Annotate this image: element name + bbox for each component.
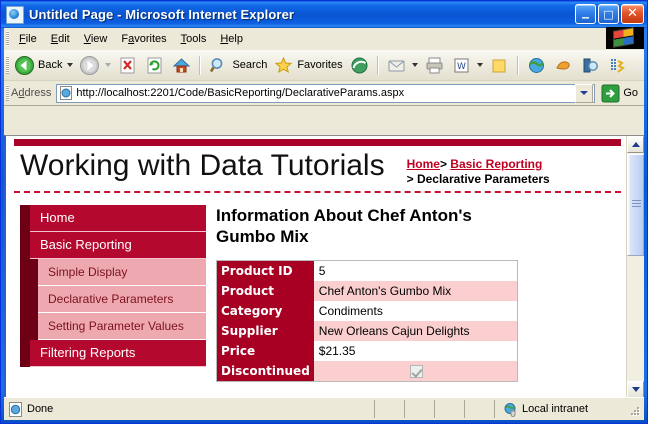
sidebar-gutter bbox=[20, 232, 30, 259]
go-button[interactable]: Go bbox=[601, 84, 638, 103]
browser-window: Untitled Page - Microsoft Internet Explo… bbox=[0, 0, 648, 424]
sidebar-gutter bbox=[20, 259, 30, 286]
page-title: Information About Chef Anton's Gumbo Mix bbox=[216, 205, 526, 247]
edit-button[interactable]: W bbox=[448, 53, 486, 77]
print-button[interactable] bbox=[421, 53, 448, 77]
vertical-scrollbar[interactable] bbox=[626, 136, 644, 398]
mail-button[interactable] bbox=[383, 53, 421, 77]
breadcrumb-line-2: > Declarative Parameters bbox=[407, 172, 550, 187]
sidebar-gutter bbox=[20, 286, 30, 313]
row-label: Product bbox=[217, 281, 314, 301]
back-button[interactable]: Back bbox=[11, 53, 76, 77]
row-value: Condiments bbox=[314, 301, 518, 321]
scrollbar-thumb[interactable] bbox=[627, 154, 644, 256]
security-zone-panel[interactable]: Local intranet bbox=[494, 400, 644, 418]
product-detail-table: Product ID 5 Product Chef Anton's Gumbo … bbox=[216, 260, 518, 382]
ie-page-icon bbox=[8, 402, 23, 417]
title-bar: Untitled Page - Microsoft Internet Explo… bbox=[1, 1, 647, 28]
maximize-icon: □ bbox=[599, 5, 618, 24]
security-zone-text: Local intranet bbox=[522, 403, 588, 415]
print-icon bbox=[424, 55, 445, 76]
sidebar-item-label: Basic Reporting bbox=[30, 232, 206, 259]
search-button[interactable]: Search bbox=[205, 53, 270, 77]
table-row: Supplier New Orleans Cajun Delights bbox=[217, 321, 518, 341]
chevron-up-icon bbox=[632, 142, 640, 147]
back-label: Back bbox=[38, 59, 62, 71]
row-label: Product ID bbox=[217, 261, 314, 282]
address-label: Address bbox=[11, 87, 51, 99]
maximize-button[interactable]: □ bbox=[598, 4, 619, 24]
standard-toolbar: Back bbox=[4, 50, 644, 81]
table-row: Category Condiments bbox=[217, 301, 518, 321]
search-icon bbox=[208, 55, 229, 76]
page-divider bbox=[14, 191, 621, 193]
sidebar-item-label: Filtering Reports bbox=[30, 340, 206, 367]
sidebar-item-label: Simple Display bbox=[38, 259, 206, 286]
menu-edit[interactable]: Edit bbox=[44, 31, 77, 47]
page-header: Working with Data Tutorials Home> Basic … bbox=[20, 146, 621, 187]
status-panel-blank-1 bbox=[374, 400, 404, 418]
scroll-down-button[interactable] bbox=[627, 381, 644, 398]
home-icon bbox=[171, 55, 192, 76]
favorites-star-icon bbox=[273, 55, 294, 76]
discontinued-checkbox bbox=[410, 365, 423, 378]
addressbar-grip[interactable] bbox=[6, 85, 9, 101]
address-dropdown-button[interactable] bbox=[575, 84, 593, 103]
menu-file[interactable]: File bbox=[12, 31, 44, 47]
table-row: Product Chef Anton's Gumbo Mix bbox=[217, 281, 518, 301]
media-button[interactable] bbox=[346, 53, 373, 77]
browser-viewport: Working with Data Tutorials Home> Basic … bbox=[4, 135, 644, 398]
menubar-grip[interactable] bbox=[6, 31, 9, 46]
scrollbar-grip-icon bbox=[632, 200, 641, 208]
menu-tools[interactable]: Tools bbox=[174, 31, 214, 47]
table-row: Discontinued bbox=[217, 361, 518, 382]
notes-icon bbox=[489, 55, 510, 76]
media-icon bbox=[349, 55, 370, 76]
sidebar-sub-gutter bbox=[30, 259, 38, 286]
forward-arrow-icon bbox=[79, 55, 100, 76]
table-row: Price $21.35 bbox=[217, 341, 518, 361]
research-icon bbox=[580, 55, 601, 76]
research-button[interactable] bbox=[577, 53, 604, 77]
sidebar-item-label: Declarative Parameters bbox=[38, 286, 206, 313]
status-bar: Done Local intranet bbox=[4, 397, 644, 420]
toolbar-grip[interactable] bbox=[6, 56, 9, 74]
row-value: 5 bbox=[314, 261, 518, 282]
toolbar-separator bbox=[199, 56, 201, 75]
minimize-button[interactable]: _ bbox=[575, 4, 596, 24]
row-value: New Orleans Cajun Delights bbox=[314, 321, 518, 341]
page-body: Home Basic Reporting Simple Display bbox=[6, 205, 627, 382]
chevron-down-icon bbox=[632, 387, 640, 392]
forward-dropdown-icon[interactable] bbox=[105, 63, 111, 67]
home-button[interactable] bbox=[168, 53, 195, 77]
ie-page-icon bbox=[6, 6, 24, 24]
status-text: Done bbox=[27, 403, 53, 415]
toolbar-separator bbox=[377, 56, 379, 75]
search-label: Search bbox=[232, 59, 267, 71]
go-label: Go bbox=[623, 87, 638, 99]
close-icon: ✕ bbox=[622, 5, 643, 23]
row-label: Discontinued bbox=[217, 361, 314, 382]
site-title: Working with Data Tutorials bbox=[20, 148, 385, 184]
resize-grip[interactable] bbox=[628, 404, 642, 418]
toolbar-separator bbox=[517, 56, 519, 75]
messenger-button[interactable] bbox=[550, 53, 577, 77]
status-panel-blank-2 bbox=[404, 400, 434, 418]
menu-help[interactable]: Help bbox=[213, 31, 250, 47]
page-accent-bar bbox=[14, 139, 621, 146]
sidebar-item-label: Home bbox=[30, 205, 206, 232]
web-page: Working with Data Tutorials Home> Basic … bbox=[6, 136, 627, 398]
address-bar: Address http://localhost:2201/Code/Basic… bbox=[4, 81, 644, 106]
row-label: Supplier bbox=[217, 321, 314, 341]
row-value: $21.35 bbox=[314, 341, 518, 361]
close-button[interactable]: ✕ bbox=[621, 4, 644, 24]
breadcrumb-separator: > bbox=[440, 157, 447, 171]
sidebar-item-setting-parameter-values[interactable]: Setting Parameter Values bbox=[20, 313, 206, 340]
globe-icon bbox=[526, 55, 547, 76]
sidebar-nav: Home Basic Reporting Simple Display bbox=[20, 205, 206, 382]
menu-view[interactable]: View bbox=[77, 31, 115, 47]
back-dropdown-icon[interactable] bbox=[67, 63, 73, 67]
address-url-text[interactable]: http://localhost:2201/Code/BasicReportin… bbox=[76, 87, 404, 99]
forward-button[interactable] bbox=[76, 53, 114, 77]
edit-dropdown-icon[interactable] bbox=[477, 63, 483, 67]
favorites-label: Favorites bbox=[297, 59, 342, 71]
go-arrow-icon bbox=[601, 84, 620, 103]
mail-dropdown-icon[interactable] bbox=[412, 63, 418, 67]
globe-shield-icon bbox=[503, 402, 518, 417]
refresh-button[interactable] bbox=[141, 53, 168, 77]
globe-button[interactable] bbox=[523, 53, 550, 77]
breadcrumb-current: Declarative Parameters bbox=[417, 172, 550, 186]
window-title: Untitled Page - Microsoft Internet Explo… bbox=[29, 7, 294, 22]
minimize-icon: _ bbox=[576, 5, 595, 18]
svg-text:W: W bbox=[457, 62, 466, 72]
client-area: File Edit View Favorites Tools Help Back bbox=[4, 28, 644, 420]
status-panel-blank-3 bbox=[434, 400, 464, 418]
address-input[interactable]: http://localhost:2201/Code/BasicReportin… bbox=[56, 84, 595, 103]
breadcrumb-link-home[interactable]: Home bbox=[407, 157, 440, 171]
refresh-icon bbox=[144, 55, 165, 76]
breadcrumb-separator-2: > bbox=[407, 172, 414, 186]
breadcrumb-link-basic-reporting[interactable]: Basic Reporting bbox=[450, 157, 542, 171]
back-arrow-icon bbox=[14, 55, 35, 76]
sidebar-item-home[interactable]: Home bbox=[20, 205, 206, 232]
stop-button[interactable] bbox=[114, 53, 141, 77]
sidebar-sub-gutter bbox=[30, 313, 38, 340]
sidebar-item-declarative-parameters[interactable]: Declarative Parameters bbox=[20, 286, 206, 313]
sidebar-item-simple-display[interactable]: Simple Display bbox=[20, 259, 206, 286]
ie-page-icon bbox=[59, 86, 73, 100]
sidebar-left-margin bbox=[6, 205, 20, 382]
sidebar-gutter bbox=[20, 313, 30, 340]
mail-icon bbox=[386, 55, 407, 76]
menu-bar: File Edit View Favorites Tools Help bbox=[4, 28, 644, 50]
breadcrumb: Home> Basic Reporting > Declarative Para… bbox=[407, 148, 550, 187]
favorites-button[interactable]: Favorites bbox=[270, 53, 345, 77]
table-row: Product ID 5 bbox=[217, 261, 518, 282]
row-value bbox=[314, 361, 518, 382]
scroll-up-button[interactable] bbox=[627, 136, 644, 153]
sidebar-item-basic-reporting[interactable]: Basic Reporting bbox=[20, 232, 206, 259]
ie-animated-logo bbox=[606, 27, 644, 49]
row-label: Price bbox=[217, 341, 314, 361]
sidebar: Home Basic Reporting Simple Display bbox=[6, 205, 206, 382]
window-controls: _ □ ✕ bbox=[575, 4, 644, 24]
sidebar-item-filtering-reports[interactable]: Filtering Reports bbox=[20, 340, 206, 367]
row-value: Chef Anton's Gumbo Mix bbox=[314, 281, 518, 301]
encarta-icon bbox=[607, 55, 628, 76]
status-panel-blank-4 bbox=[464, 400, 494, 418]
main-content: Information About Chef Anton's Gumbo Mix… bbox=[206, 205, 627, 382]
breadcrumb-line-1: Home> Basic Reporting bbox=[407, 157, 550, 172]
stop-icon bbox=[117, 55, 138, 76]
sidebar-sub-gutter bbox=[30, 286, 38, 313]
sidebar-gutter bbox=[20, 205, 30, 232]
messenger-icon bbox=[553, 55, 574, 76]
notes-button[interactable] bbox=[486, 53, 513, 77]
status-message-panel: Done bbox=[4, 400, 374, 418]
sidebar-gutter bbox=[20, 340, 30, 367]
menu-favorites[interactable]: Favorites bbox=[114, 31, 173, 47]
row-label: Category bbox=[217, 301, 314, 321]
sidebar-item-label: Setting Parameter Values bbox=[38, 313, 206, 340]
encarta-button[interactable] bbox=[604, 53, 631, 77]
edit-word-icon: W bbox=[451, 55, 472, 76]
